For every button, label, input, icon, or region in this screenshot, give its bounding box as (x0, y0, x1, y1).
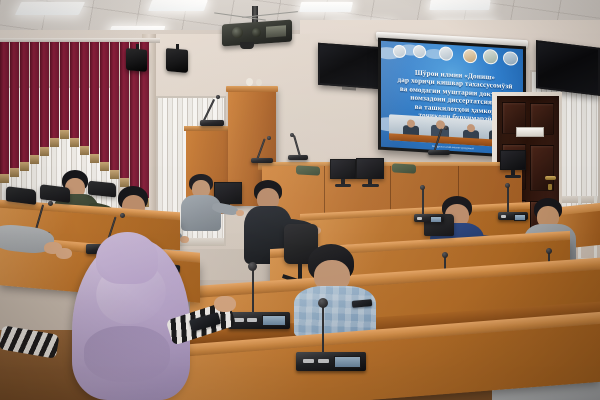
slide-thumbnail (413, 45, 426, 59)
ceiling-light (148, 0, 208, 11)
door-lock-icon[interactable] (548, 184, 552, 190)
wall-speaker-left (126, 48, 147, 72)
slide-thumbnail (463, 49, 477, 64)
wall-display-right (536, 40, 600, 96)
slide-thumbnail (439, 46, 453, 61)
ceiling-light (429, 0, 490, 10)
display-screen (320, 45, 380, 87)
podium-tall-surface (226, 86, 278, 92)
podium-object (256, 79, 262, 86)
hand (214, 296, 236, 312)
chair-green (296, 165, 320, 175)
hijab-head (96, 232, 158, 284)
door-sign (516, 127, 544, 137)
projector-lens-icon (232, 27, 243, 38)
conference-hall-photo: Шўрои илмии «Дониш» дар хориҷи кишвар та… (0, 0, 600, 400)
wall-display-left (318, 43, 382, 89)
chair (88, 181, 116, 198)
projector-ceiling-mount (240, 42, 254, 49)
projector-lens-icon (252, 28, 261, 37)
ceiling-light (299, 2, 353, 12)
slide-thumbnail (503, 51, 518, 66)
door-handle[interactable] (545, 176, 556, 180)
hijab-fold (84, 326, 170, 382)
podium-object (246, 78, 253, 86)
slide-thumbnail (483, 49, 498, 65)
display-screen (538, 42, 598, 93)
slide-thumbnail (393, 44, 406, 58)
ceiling-light (15, 2, 85, 15)
wall-speaker-right (166, 48, 188, 73)
projector-panel (266, 25, 286, 37)
podium-low-surface (184, 126, 234, 131)
chair-green (392, 163, 416, 173)
